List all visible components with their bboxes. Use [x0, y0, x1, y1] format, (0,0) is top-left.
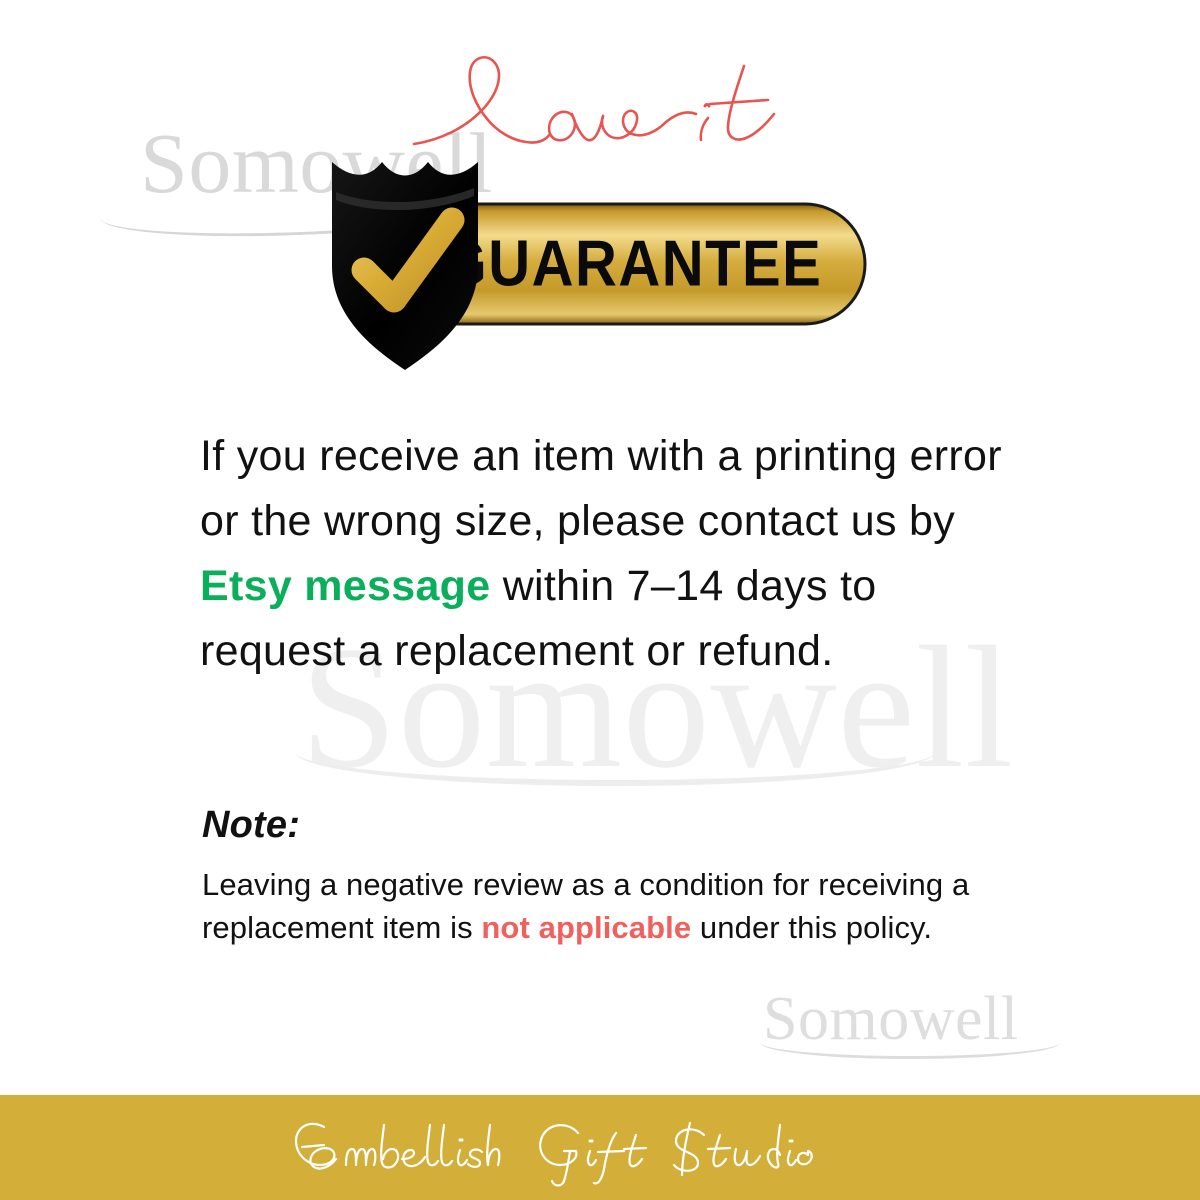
note-block: Note: Leaving a negative review as a con… — [202, 805, 1032, 949]
note-text-segment-2: under this policy. — [691, 910, 932, 945]
watermark-swoosh-bottom-right — [760, 1026, 1060, 1059]
shield-icon — [332, 162, 478, 370]
policy-text-segment-1: If you receive an item with a printing e… — [200, 432, 1002, 545]
note-heading: Note: — [202, 805, 1032, 847]
not-applicable-highlight: not applicable — [481, 910, 691, 945]
watermark-swoosh-center — [295, 718, 935, 786]
guarantee-ribbon: GUARANTEE — [430, 204, 865, 324]
note-body: Leaving a negative review as a condition… — [202, 863, 1032, 949]
footer-brand-bar — [0, 1095, 1200, 1200]
policy-paragraph: If you receive an item with a printing e… — [200, 424, 1030, 684]
footer-brand-script — [280, 1107, 920, 1189]
guarantee-ribbon-label: GUARANTEE — [442, 228, 823, 301]
guarantee-badge: GUARANTEE — [310, 148, 870, 383]
guarantee-badge-artwork: GUARANTEE — [310, 148, 870, 383]
etsy-message-highlight: Etsy message — [200, 562, 490, 610]
guarantee-graphic: Somowell Somowell Somowell — [0, 0, 1200, 1200]
